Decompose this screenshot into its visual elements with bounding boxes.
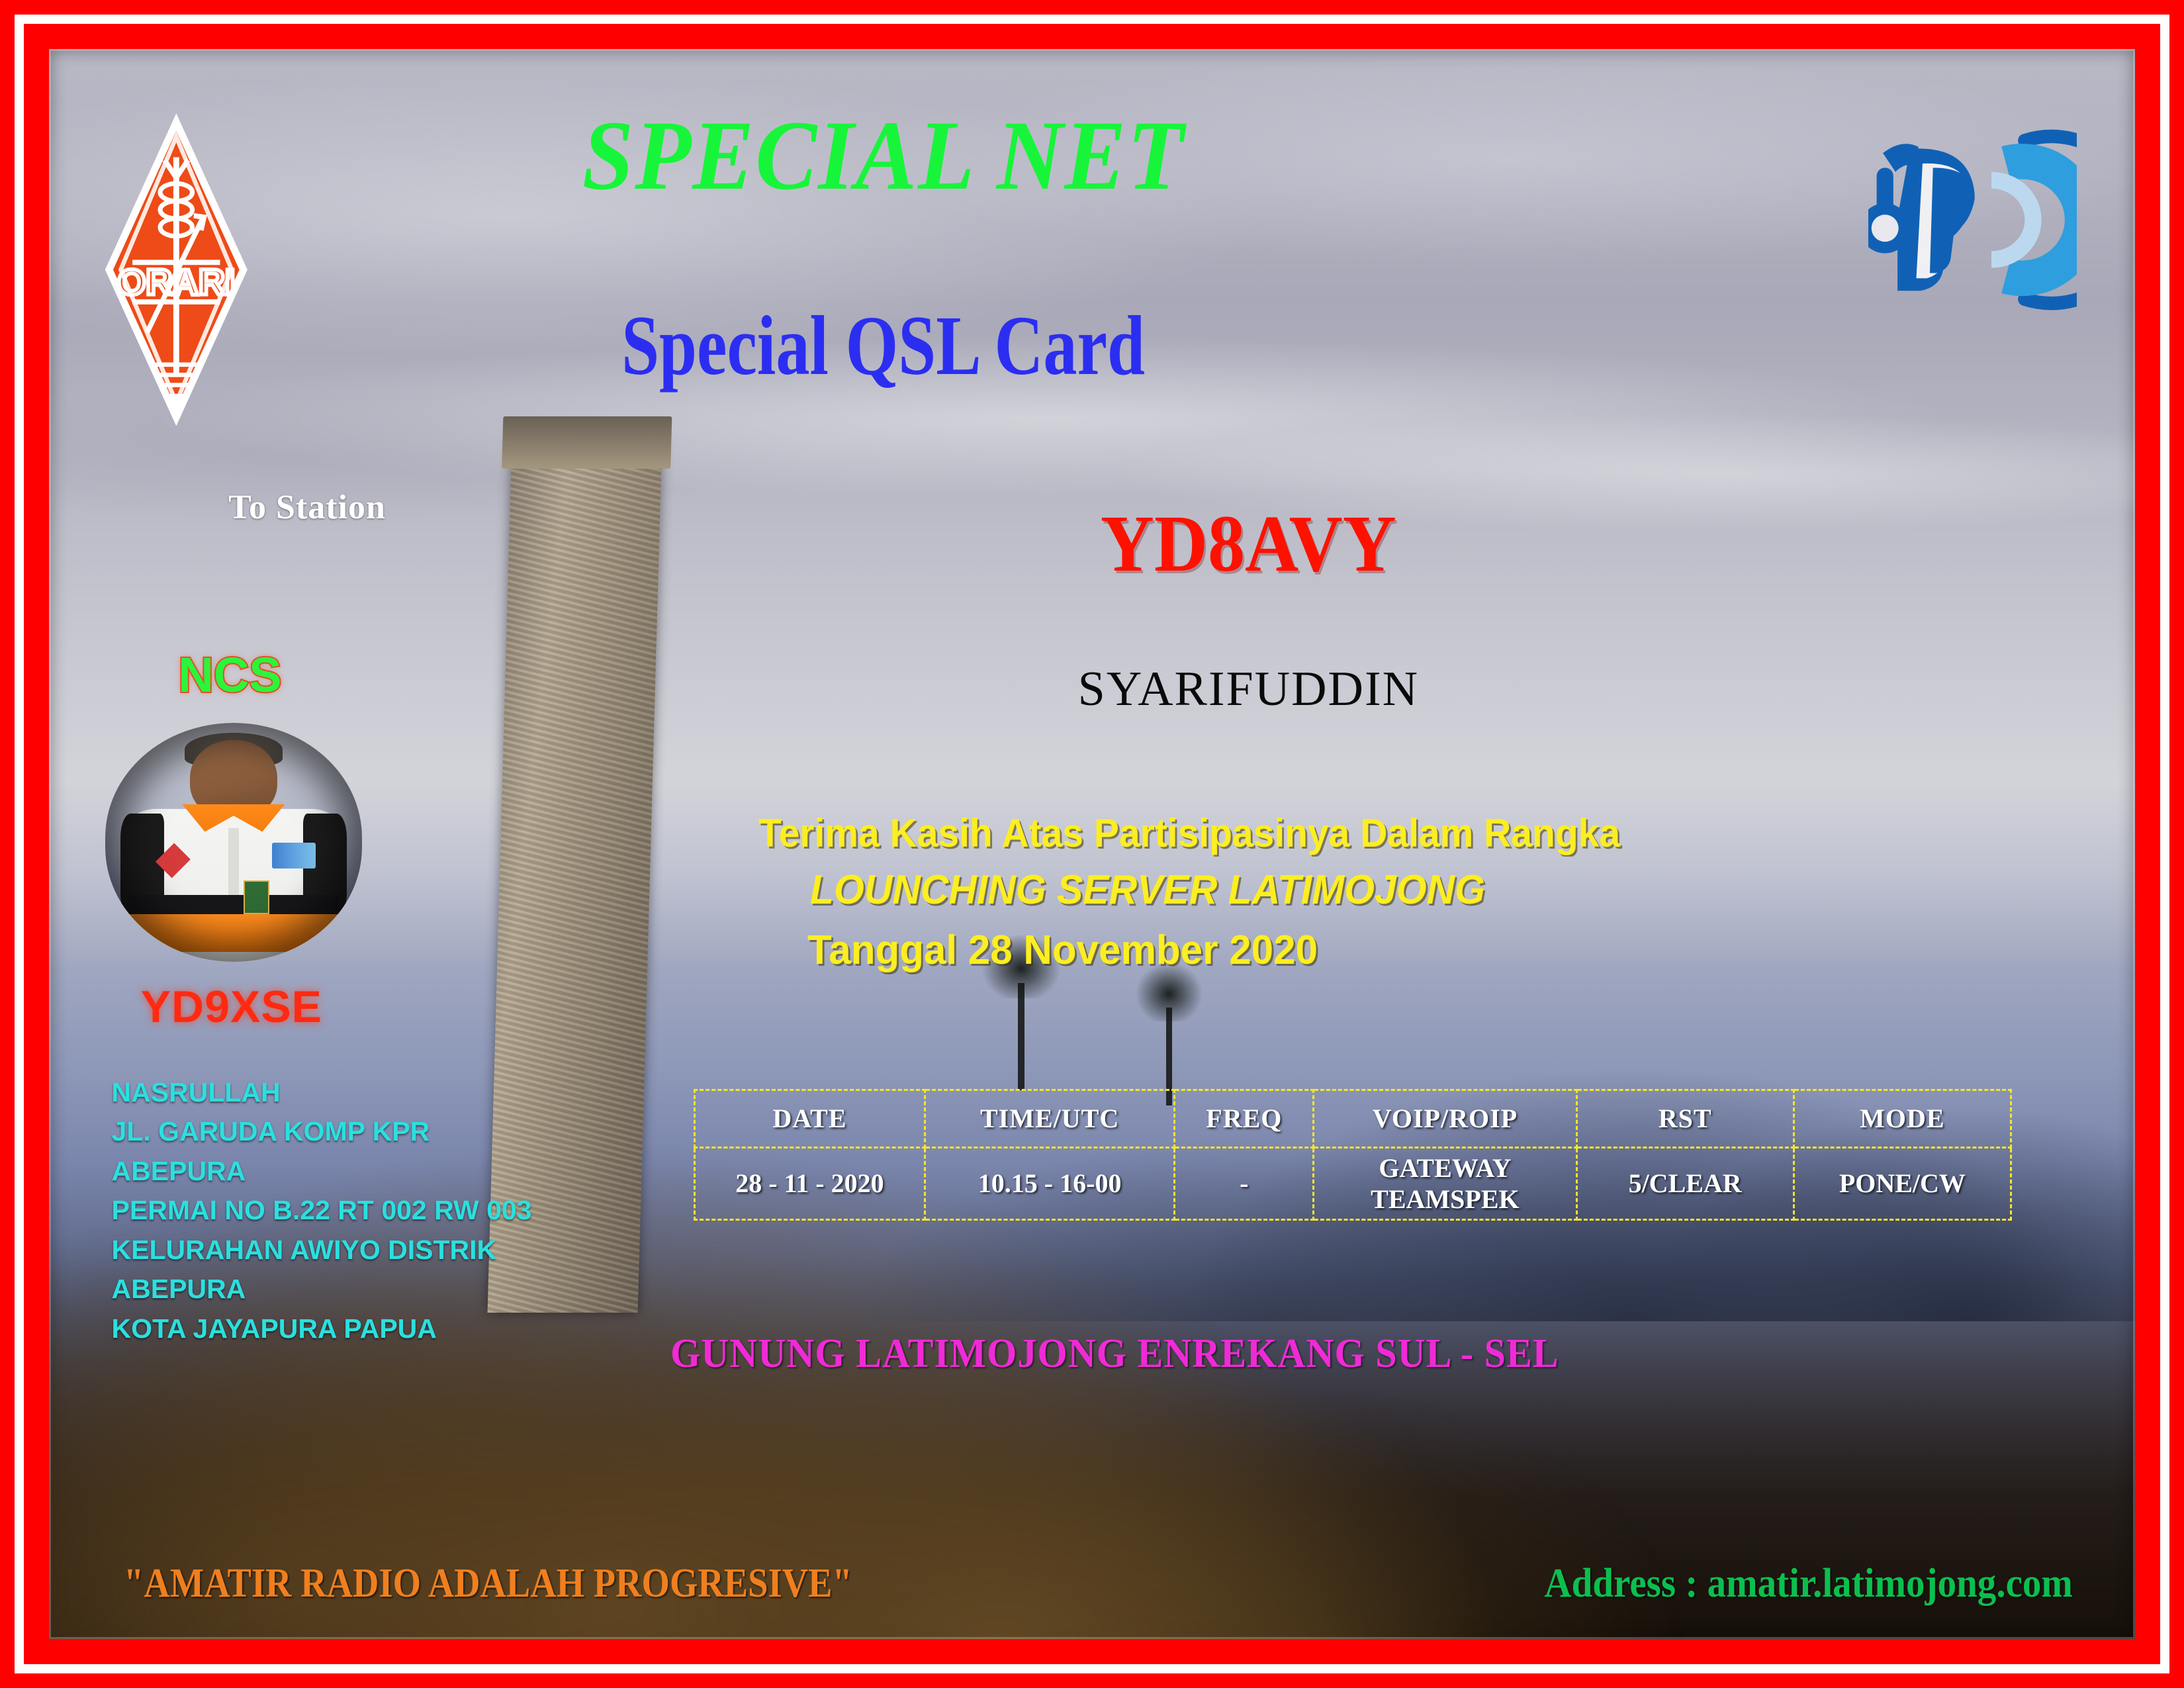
cell-freq: - <box>1175 1147 1314 1219</box>
page-subtitle: Special QSL Card <box>416 303 1351 388</box>
qsl-card-white-gap: ORARI <box>15 15 2169 1673</box>
station-callsign: YD8AVY <box>941 504 1555 585</box>
page-title: SPECIAL NET <box>321 106 1446 205</box>
column-header-mode: MODE <box>1794 1090 2011 1147</box>
qsl-card-background-scene: ORARI <box>49 49 2135 1639</box>
cell-rst: 5/CLEAR <box>1576 1147 1794 1219</box>
column-header-rst: RST <box>1576 1090 1794 1147</box>
address-line: ABEPURA <box>112 1270 532 1309</box>
thanks-block: Terima Kasih Atas Partisipasinya Dalam R… <box>758 812 2052 972</box>
table-row: 28 - 11 - 2020 10.15 - 16-00 - GATEWAY T… <box>694 1147 2011 1219</box>
thanks-line-3: Tanggal 28 November 2020 <box>807 929 2015 972</box>
qso-table: DATE TIME/UTC FREQ VOIP/ROIP RST MODE 28… <box>694 1089 2012 1221</box>
ncs-callsign: YD9XSE <box>141 981 322 1033</box>
cell-voip-roip-line2: TEAMSPEK <box>1371 1184 1519 1214</box>
cell-mode: PONE/CW <box>1794 1147 2011 1219</box>
cell-time: 10.15 - 16-00 <box>925 1147 1175 1219</box>
ncs-label: NCS <box>178 647 281 703</box>
address-line: PERMAI NO B.22 RT 002 RW 003 <box>112 1191 532 1230</box>
address-line: KOTA JAYAPURA PAPUA <box>112 1309 532 1348</box>
ncs-operator-photo <box>105 723 362 961</box>
address-line: ABEPURA <box>112 1152 532 1191</box>
column-header-freq: FREQ <box>1175 1090 1314 1147</box>
svg-text:ORARI: ORARI <box>117 261 235 303</box>
table-header-row: DATE TIME/UTC FREQ VOIP/ROIP RST MODE <box>694 1090 2011 1147</box>
cell-voip-roip-line1: GATEWAY <box>1379 1153 1511 1183</box>
net-headset-logo <box>1868 97 2077 343</box>
cell-voip-roip: GATEWAY TEAMSPEK <box>1314 1147 1576 1219</box>
cell-date: 28 - 11 - 2020 <box>694 1147 925 1219</box>
mailing-address: NASRULLAH JL. GARUDA KOMP KPR ABEPURA PE… <box>112 1073 532 1348</box>
address-line: JL. GARUDA KOMP KPR <box>112 1112 532 1151</box>
address-line: KELURAHAN AWIYO DISTRIK <box>112 1231 532 1270</box>
column-header-voip-roip: VOIP/ROIP <box>1314 1090 1576 1147</box>
footer-web-address: Address : amatir.latimojong.com <box>1544 1560 2073 1607</box>
column-header-time: TIME/UTC <box>925 1090 1175 1147</box>
qsl-card-outer-frame: ORARI <box>0 0 2184 1688</box>
thanks-line-2: LOUNCHING SERVER LATIMOJONG <box>810 868 1989 912</box>
column-header-date: DATE <box>694 1090 925 1147</box>
address-line: NASRULLAH <box>112 1073 532 1112</box>
qsl-card-inner-frame: ORARI <box>24 24 2160 1664</box>
footer-slogan: "AMATIR RADIO ADALAH PROGRESIVE" <box>124 1560 852 1607</box>
operator-name: SYARIFUDDIN <box>894 665 1604 714</box>
to-station-label: To Station <box>228 488 386 527</box>
thanks-line-1: Terima Kasih Atas Partisipasinya Dalam R… <box>758 812 1987 854</box>
location-line: GUNUNG LATIMOJONG ENREKANG SUL - SEL <box>670 1331 1559 1378</box>
orari-logo: ORARI <box>103 90 250 449</box>
